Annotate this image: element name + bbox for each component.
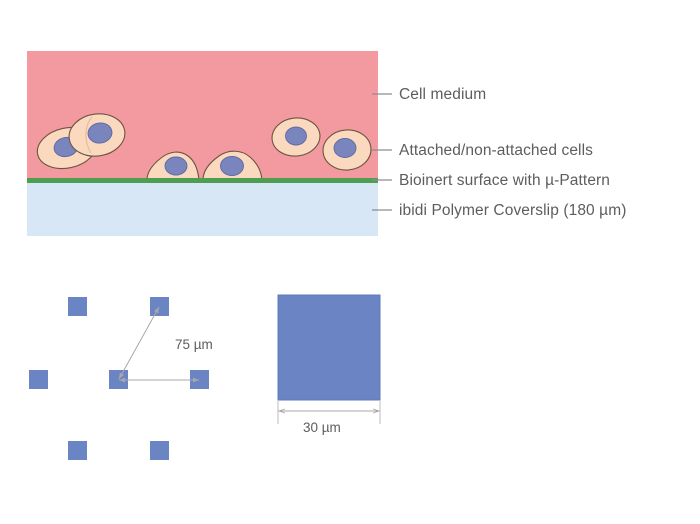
cell-nucleus [286, 127, 307, 145]
pattern-square [68, 441, 87, 460]
pattern-square [29, 370, 48, 389]
label-size-30um: 30 µm [303, 421, 341, 435]
cross-section-diagram [27, 51, 378, 236]
label-attached-cells: Attached/non-attached cells [399, 143, 593, 159]
pattern-square [150, 441, 169, 460]
bioinert-surface-layer [27, 178, 378, 183]
pattern-square [68, 297, 87, 316]
label-cell-medium: Cell medium [399, 87, 486, 103]
detail-square [278, 295, 380, 400]
pattern-grid [29, 297, 209, 460]
polymer-coverslip-layer [27, 183, 378, 236]
pattern-square-detail [278, 295, 380, 424]
label-bioinert-surface: Bioinert surface with µ-Pattern [399, 173, 610, 189]
cell-nucleus [165, 157, 187, 175]
spacing-arrow-diagonal [119, 307, 159, 379]
figure-svg [0, 0, 700, 524]
cell-nucleus [221, 157, 244, 176]
cell-nucleus [334, 139, 356, 158]
label-spacing-75um: 75 µm [175, 338, 213, 352]
pattern-square [150, 297, 169, 316]
label-polymer-coverslip: ibidi Polymer Coverslip (180 µm) [399, 203, 626, 219]
figure-canvas: Cell medium Attached/non-attached cells … [0, 0, 700, 524]
